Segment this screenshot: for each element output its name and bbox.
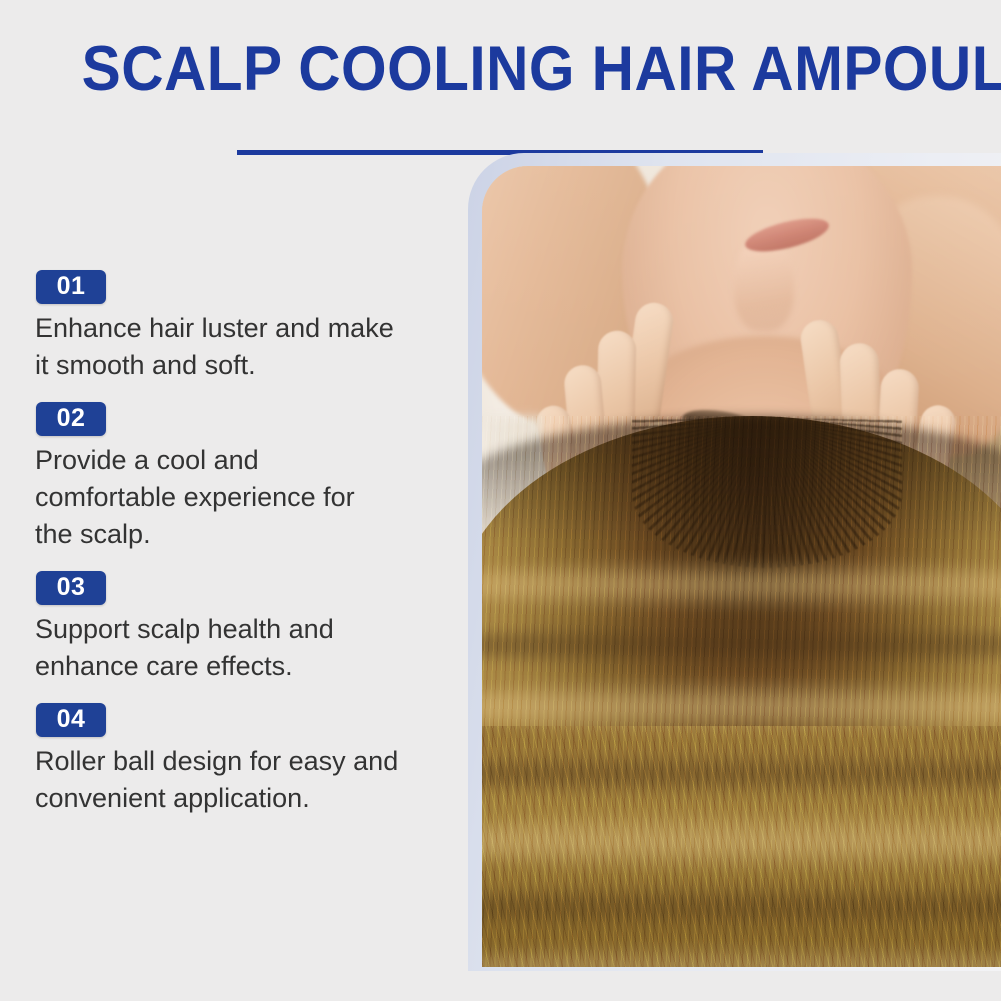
- product-photo-frame: [468, 153, 1001, 971]
- feature-description: Support scalp health and enhance care ef…: [35, 611, 435, 685]
- feature-description: Enhance hair luster and make it smooth a…: [35, 310, 435, 384]
- page-title-block: SCALP COOLING HAIR AMPOULE: [0, 34, 1001, 134]
- feature-number-badge: 04: [36, 703, 106, 737]
- feature-item-03: 03 Support scalp health and enhance care…: [0, 571, 455, 685]
- feature-item-02: 02 Provide a cool and comfortable experi…: [0, 402, 455, 553]
- scalp-massage-photo: [482, 166, 1001, 967]
- feature-number-badge: 02: [36, 402, 106, 436]
- feature-item-01: 01 Enhance hair luster and make it smoot…: [0, 270, 455, 384]
- product-infographic: SCALP COOLING HAIR AMPOULE 01 Enhance ha…: [0, 0, 1001, 1001]
- feature-description: Roller ball design for easy and convenie…: [35, 743, 435, 817]
- feature-item-04: 04 Roller ball design for easy and conve…: [0, 703, 455, 817]
- feature-number-badge: 03: [36, 571, 106, 605]
- page-title: SCALP COOLING HAIR AMPOULE: [82, 34, 924, 104]
- feature-list: 01 Enhance hair luster and make it smoot…: [0, 270, 455, 835]
- feature-description: Provide a cool and comfortable experienc…: [35, 442, 435, 553]
- feature-number-badge: 01: [36, 270, 106, 304]
- photo-color-grade: [482, 166, 1001, 967]
